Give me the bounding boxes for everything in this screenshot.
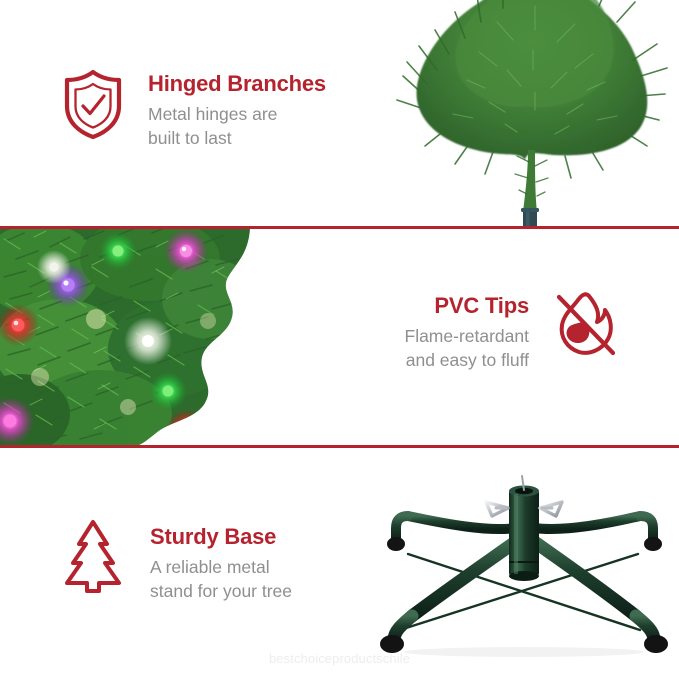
feature-body-line-1: Metal hinges are [148,104,277,124]
feature-heading: PVC Tips [434,293,529,319]
panel-hinged-branches: Hinged Branches Metal hinges are built t… [0,0,679,227]
christmas-tree-icon [62,518,124,599]
lit-multicolor-tree-closeup-photo [0,229,262,446]
feature-sturdy-base: Sturdy Base A reliable metal stand for y… [62,518,292,603]
feature-text-pvc-tips: PVC Tips Flame-retardant and easy to flu… [405,290,530,372]
feature-body-line-2: built to last [148,128,232,148]
bare-green-tree-section-photo [385,0,679,226]
feature-body: Flame-retardant and easy to fluff [405,324,530,372]
feature-heading: Sturdy Base [150,524,276,550]
feature-hinged-branches: Hinged Branches Metal hinges are built t… [62,68,326,150]
feature-body-line-2: stand for your tree [150,581,292,601]
feature-body-line-1: A reliable metal [150,557,270,577]
feature-pvc-tips: PVC Tips Flame-retardant and easy to flu… [405,290,620,372]
watermark-text: bestchoiceproductschile [0,651,679,666]
feature-body-line-2: and easy to fluff [406,350,529,370]
feature-infographic: Hinged Branches Metal hinges are built t… [0,0,679,679]
green-metal-tree-stand-photo [368,468,679,658]
feature-text-sturdy-base: Sturdy Base A reliable metal stand for y… [150,518,292,603]
feature-body-line-1: Flame-retardant [405,326,530,346]
shield-check-icon [62,68,124,145]
feature-text-hinged-branches: Hinged Branches Metal hinges are built t… [148,68,326,150]
no-flame-icon [553,290,619,365]
feature-heading: Hinged Branches [148,71,326,97]
feature-body: A reliable metal stand for your tree [150,555,292,603]
feature-body: Metal hinges are built to last [148,102,277,150]
